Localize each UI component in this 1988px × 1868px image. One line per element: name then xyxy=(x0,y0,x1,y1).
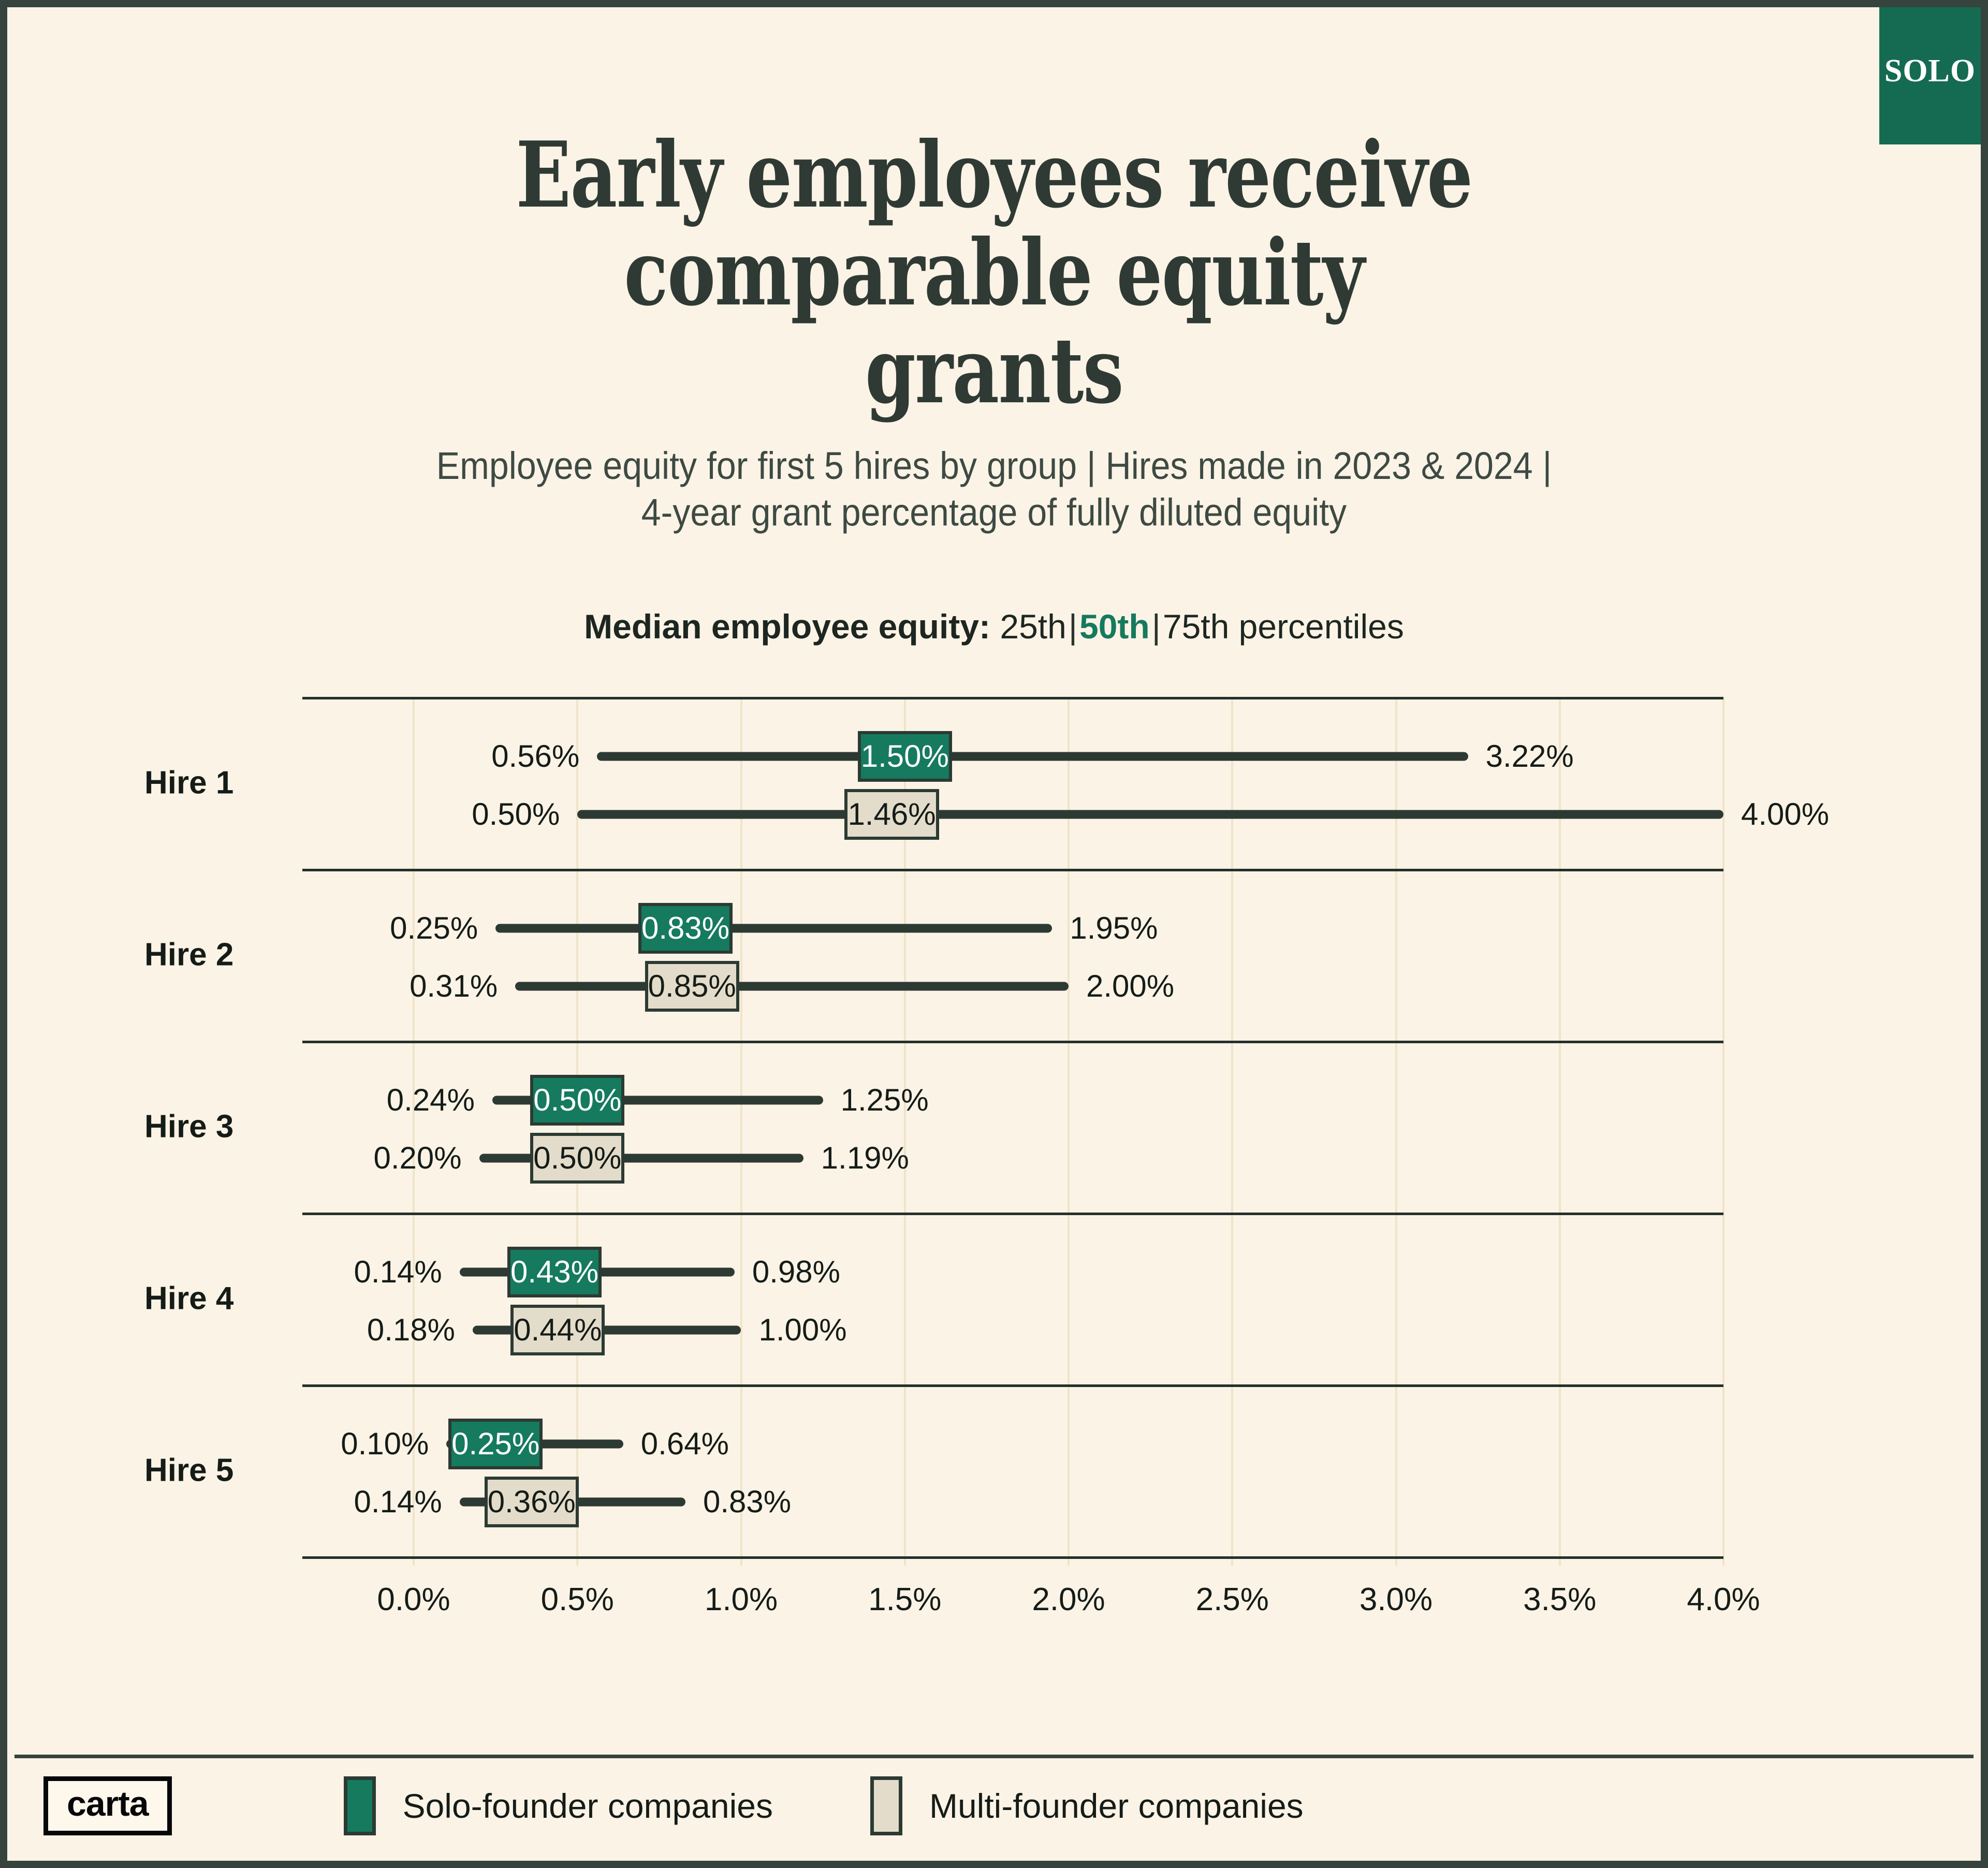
x-axis-tick-label: 3.0% xyxy=(1360,1581,1432,1618)
band-separator xyxy=(302,697,1723,699)
legend-label-multi: Multi-founder companies xyxy=(929,1786,1304,1826)
p75-value-label: 1.25% xyxy=(841,1085,929,1116)
page-title: Early employees receive comparable equit… xyxy=(497,126,1491,420)
x-axis-tick-label: 1.0% xyxy=(705,1581,778,1618)
median-value-label: 0.25% xyxy=(451,1428,539,1460)
median-box-solo: 0.25% xyxy=(448,1419,543,1469)
p75-value-label: 0.83% xyxy=(703,1486,791,1517)
legend-swatch-solo-icon xyxy=(344,1776,376,1835)
median-value-label: 0.36% xyxy=(488,1486,576,1517)
median-box-solo: 0.43% xyxy=(507,1247,602,1297)
p75-value-label: 3.22% xyxy=(1486,741,1574,772)
chart-plot-area: Hire 11.50%0.56%3.22%1.46%0.50%4.00%Hire… xyxy=(7,691,1988,1571)
percentile-legend-p25: 25th xyxy=(1000,607,1066,646)
infographic-page: SOLO Early employees receive comparable … xyxy=(0,0,1988,1868)
p75-value-label: 1.00% xyxy=(759,1315,847,1346)
p25-value-label: 0.56% xyxy=(491,741,579,772)
legend-item-multi: Multi-founder companies xyxy=(870,1776,1304,1835)
legend-label-solo: Solo-founder companies xyxy=(403,1786,773,1826)
median-value-label: 0.44% xyxy=(514,1315,602,1346)
median-box-solo: 0.50% xyxy=(530,1075,624,1126)
p75-value-label: 0.98% xyxy=(752,1257,840,1288)
footer: carta Solo-founder companies Multi-found… xyxy=(14,1755,1974,1854)
band-separator xyxy=(302,1384,1723,1387)
band-separator xyxy=(302,1213,1723,1215)
median-box-multi: 0.50% xyxy=(530,1133,624,1184)
whisker-range xyxy=(495,924,1052,932)
category-label-hire-4: Hire 4 xyxy=(144,1280,233,1317)
category-label-hire-1: Hire 1 xyxy=(144,765,233,801)
legend-item-solo: Solo-founder companies xyxy=(344,1776,773,1835)
band-separator xyxy=(302,1041,1723,1043)
gridline xyxy=(1231,698,1233,1566)
p25-value-label: 0.20% xyxy=(374,1143,462,1174)
median-value-label: 0.50% xyxy=(533,1085,621,1116)
solo-badge: SOLO xyxy=(1879,7,1981,144)
p25-value-label: 0.50% xyxy=(472,799,560,830)
p75-value-label: 1.95% xyxy=(1070,913,1158,944)
legend-swatch-multi-icon xyxy=(870,1776,902,1835)
whisker-range xyxy=(479,1154,803,1163)
x-axis-tick-label: 0.0% xyxy=(377,1581,450,1618)
x-axis-tick-label: 2.5% xyxy=(1196,1581,1269,1618)
p75-value-label: 2.00% xyxy=(1086,971,1174,1002)
median-box-multi: 0.36% xyxy=(485,1477,579,1527)
band-separator xyxy=(302,1556,1723,1559)
whisker-range xyxy=(577,810,1723,819)
x-axis: 0.0%0.5%1.0%1.5%2.0%2.5%3.0%3.5%4.0% xyxy=(7,1581,1988,1638)
x-axis-tick-label: 3.5% xyxy=(1523,1581,1596,1618)
solo-badge-label: SOLO xyxy=(1884,53,1976,90)
median-box-solo: 0.83% xyxy=(638,903,733,954)
median-value-label: 1.50% xyxy=(861,741,949,772)
p75-value-label: 4.00% xyxy=(1741,799,1829,830)
median-value-label: 0.43% xyxy=(510,1257,598,1288)
category-label-hire-2: Hire 2 xyxy=(144,937,233,973)
gridline xyxy=(1068,698,1070,1566)
x-axis-tick-label: 0.5% xyxy=(541,1581,614,1618)
percentile-legend-p50: 50th xyxy=(1079,607,1150,646)
p25-value-label: 0.18% xyxy=(367,1315,455,1346)
p75-value-label: 0.64% xyxy=(641,1428,729,1460)
gridline xyxy=(576,698,578,1566)
carta-logo: carta xyxy=(43,1776,172,1835)
p25-value-label: 0.14% xyxy=(354,1486,442,1517)
median-box-multi: 0.85% xyxy=(645,961,739,1012)
p25-value-label: 0.31% xyxy=(410,971,498,1002)
carta-logo-text: carta xyxy=(67,1784,149,1823)
whisker-range xyxy=(515,982,1069,991)
p25-value-label: 0.14% xyxy=(354,1257,442,1288)
median-box-multi: 0.44% xyxy=(510,1305,605,1355)
x-axis-tick-label: 1.5% xyxy=(868,1581,941,1618)
percentile-legend-sep-1: | xyxy=(1066,607,1079,646)
gridline xyxy=(1559,698,1561,1566)
whisker-range xyxy=(597,752,1468,761)
median-box-multi: 1.46% xyxy=(844,789,939,840)
gridline xyxy=(1722,698,1724,1566)
median-value-label: 0.85% xyxy=(648,971,736,1002)
p25-value-label: 0.25% xyxy=(390,913,478,944)
median-value-label: 1.46% xyxy=(847,799,935,830)
percentile-legend-prefix: Median employee equity: xyxy=(584,607,990,646)
percentile-legend-p75: 75th percentiles xyxy=(1163,607,1404,646)
p25-value-label: 0.10% xyxy=(341,1428,429,1460)
p75-value-label: 1.19% xyxy=(821,1143,909,1174)
page-subtitle: Employee equity for first 5 hires by gro… xyxy=(418,443,1570,536)
percentile-legend-sep-2: | xyxy=(1150,607,1163,646)
x-axis-tick-label: 4.0% xyxy=(1687,1581,1760,1618)
gridline xyxy=(740,698,742,1566)
band-separator xyxy=(302,869,1723,871)
median-box-solo: 1.50% xyxy=(858,731,952,782)
percentile-legend: Median employee equity: 25th|50th|75th p… xyxy=(7,607,1981,646)
x-axis-tick-label: 2.0% xyxy=(1032,1581,1105,1618)
gridline xyxy=(1395,698,1397,1566)
median-value-label: 0.83% xyxy=(641,913,729,944)
header: Early employees receive comparable equit… xyxy=(7,126,1981,536)
p25-value-label: 0.24% xyxy=(387,1085,475,1116)
median-value-label: 0.50% xyxy=(533,1143,621,1174)
category-label-hire-3: Hire 3 xyxy=(144,1108,233,1145)
category-label-hire-5: Hire 5 xyxy=(144,1452,233,1489)
